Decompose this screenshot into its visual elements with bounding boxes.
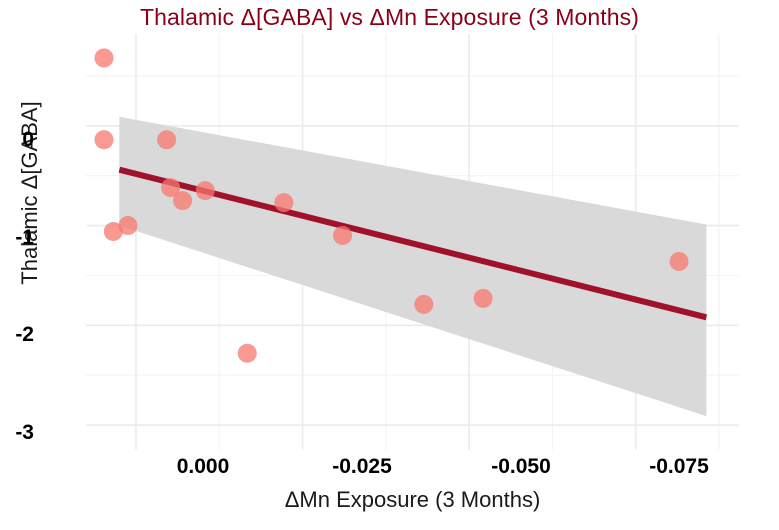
data-point: [161, 178, 180, 197]
plot-canvas: [86, 34, 739, 450]
y-axis-title: Thalamic Δ[GABA]: [17, 13, 43, 373]
x-tick-label-3: -0.075: [619, 455, 739, 479]
y-tick-label-3: -3: [0, 421, 34, 445]
confidence-ribbon: [119, 117, 706, 416]
x-tick-label-0: 0.000: [143, 455, 263, 479]
data-point: [274, 193, 293, 212]
data-point: [94, 130, 113, 149]
data-point: [118, 216, 137, 235]
y-tick-label-1: -1: [0, 226, 34, 250]
x-axis-title: ΔMn Exposure (3 Months): [86, 487, 739, 513]
data-point: [670, 252, 689, 271]
data-point: [157, 130, 176, 149]
x-tick-label-2: -0.050: [461, 455, 581, 479]
chart-title: Thalamic Δ[GABA] vs ΔMn Exposure (3 Mont…: [0, 4, 779, 31]
y-tick-label-2: -2: [0, 323, 34, 347]
x-tick-label-1: -0.025: [302, 455, 422, 479]
data-point: [474, 289, 493, 308]
scatter-plot-figure: Thalamic Δ[GABA] vs ΔMn Exposure (3 Mont…: [0, 0, 779, 530]
data-point: [94, 48, 113, 67]
data-point: [414, 295, 433, 314]
data-point: [238, 344, 257, 363]
y-tick-label-0: 0: [0, 128, 34, 152]
data-point: [333, 226, 352, 245]
data-point: [196, 181, 215, 200]
plot-area: [86, 34, 739, 450]
